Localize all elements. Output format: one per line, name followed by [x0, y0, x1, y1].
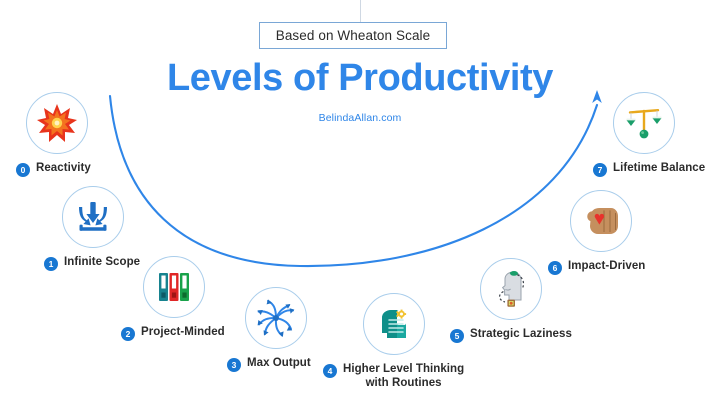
level-label-line1: Higher Level Thinking [343, 363, 464, 375]
level-badge: 1 [44, 257, 58, 271]
level-badge: 7 [593, 163, 607, 177]
radiating-arrows-icon [255, 297, 297, 339]
level-label: Higher Level Thinking with Routines [343, 363, 464, 390]
level-label-line2: with Routines [343, 377, 464, 391]
level-label: Impact-Driven [568, 260, 645, 274]
level-icon-circle [143, 256, 205, 318]
level-icon-circle [245, 287, 307, 349]
balance-scale-icon [624, 103, 664, 143]
subtitle-attribution: BelindaAllan.com [0, 112, 720, 124]
inbox-arrows-icon [73, 197, 113, 237]
level-icon-circle [26, 92, 88, 154]
level-label-row: 4 Higher Level Thinking with Routines [323, 363, 464, 390]
binders-icon [154, 267, 194, 307]
level-label: Lifetime Balance [613, 162, 705, 176]
level-label: Strategic Laziness [470, 328, 572, 342]
level-label-row: 2 Project-Minded [121, 326, 225, 341]
level-label: Max Output [247, 357, 311, 371]
infographic-canvas: Based on Wheaton Scale Levels of Product… [0, 0, 720, 407]
head-gear-icon [375, 305, 413, 343]
level-icon-circle [613, 92, 675, 154]
explosion-star-icon [37, 103, 77, 143]
level-label-row: 6 Impact-Driven [548, 260, 645, 275]
source-note-text: Based on Wheaton Scale [276, 28, 431, 43]
level-label: Infinite Scope [64, 256, 140, 270]
level-badge: 6 [548, 261, 562, 275]
level-badge: 3 [227, 358, 241, 372]
level-label: Project-Minded [141, 326, 225, 340]
source-note-box: Based on Wheaton Scale [259, 22, 447, 49]
level-badge: 2 [121, 327, 135, 341]
level-icon-circle [480, 258, 542, 320]
level-icon-circle [570, 190, 632, 252]
page-title: Levels of Productivity [0, 57, 720, 99]
level-label-row: 0 Reactivity [16, 162, 91, 177]
hand-heart-icon [581, 201, 621, 241]
level-label-row: 1 Infinite Scope [44, 256, 140, 271]
level-badge: 4 [323, 364, 337, 378]
level-icon-circle [62, 186, 124, 248]
head-loop-icon [491, 269, 531, 309]
header-connector-line [360, 0, 361, 22]
level-label-row: 3 Max Output [227, 357, 311, 372]
level-icon-circle [363, 293, 425, 355]
level-badge: 5 [450, 329, 464, 343]
level-label-row: 5 Strategic Laziness [450, 328, 572, 343]
level-label-row: 7 Lifetime Balance [593, 162, 705, 177]
level-label: Reactivity [36, 162, 91, 176]
level-badge: 0 [16, 163, 30, 177]
